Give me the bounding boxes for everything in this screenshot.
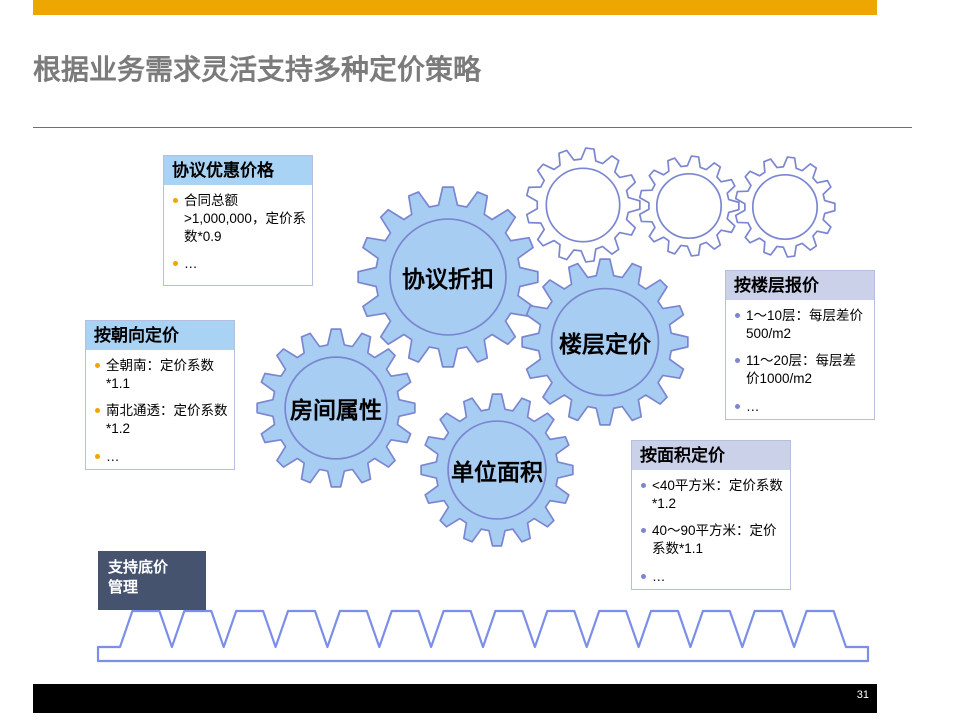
rack-label-line1: 支持底价 — [108, 559, 168, 576]
rack-bar-shape — [98, 611, 868, 661]
rack-label-box: 支持底价 管理 — [98, 551, 206, 610]
rack-base — [0, 0, 960, 720]
rack-label-line2: 管理 — [108, 579, 138, 596]
page-number: 31 — [857, 690, 869, 701]
bottom-bar: 31 — [33, 684, 877, 713]
slide-canvas: 根据业务需求灵活支持多种定价策略 协议折扣楼层定价房间属性单位面积 协议优惠价格… — [0, 0, 960, 720]
